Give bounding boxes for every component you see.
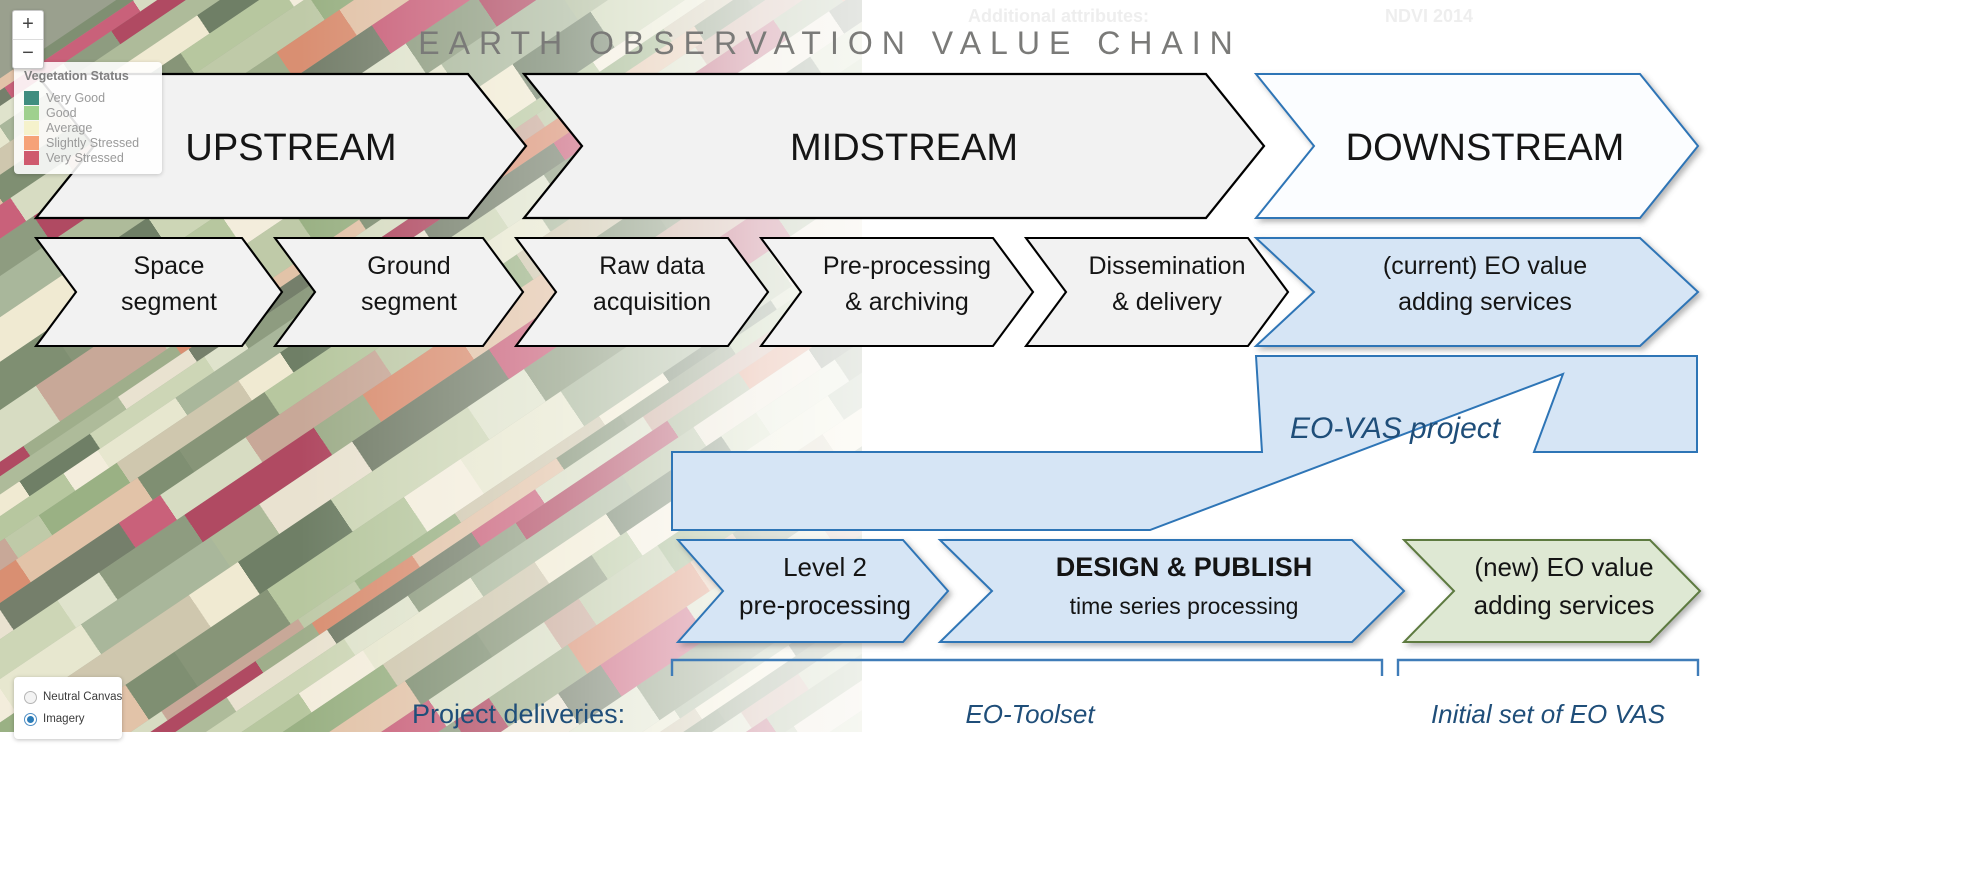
legend-item-label: Average [46, 121, 92, 135]
zoom-in-button[interactable]: + [13, 11, 43, 39]
stage-label-line2: & delivery [1112, 288, 1222, 316]
map-zoom-controls[interactable]: + − [12, 10, 44, 69]
stage-label-line1: Dissemination [1088, 252, 1245, 280]
legend-item-label: Slightly Stressed [46, 136, 139, 150]
legend-color-swatch [24, 121, 39, 135]
basemap-option-label: Imagery [43, 713, 85, 725]
basemap-selector[interactable]: Neutral CanvasImagery [14, 677, 122, 739]
delivery-bracket [672, 660, 1382, 676]
basemap-option[interactable]: Neutral Canvas [24, 686, 114, 708]
project-stage-label-line2: adding services [1474, 590, 1655, 620]
basemap-option[interactable]: Imagery [24, 708, 114, 730]
project-stage-label-line2: time series processing [1070, 593, 1299, 619]
legend-rows: Very GoodGoodAverageSlightly StressedVer… [24, 90, 154, 165]
radio-selected-icon[interactable] [24, 713, 37, 726]
basemap-rows[interactable]: Neutral CanvasImagery [24, 686, 114, 730]
project-deliveries-label: Project deliveries: [412, 699, 625, 729]
tier-label: DOWNSTREAM [1346, 127, 1625, 169]
legend-item-label: Good [46, 106, 77, 120]
stage-label-line1: Pre-processing [823, 252, 991, 280]
project-stage-label-line1: Level 2 [783, 552, 867, 582]
project-stage-label-line1: (new) EO value [1474, 552, 1653, 582]
radio-unselected-icon[interactable] [24, 691, 37, 704]
legend-item-label: Very Good [46, 91, 105, 105]
stage-label-line1: Space [134, 252, 205, 280]
legend-color-swatch [24, 106, 39, 120]
basemap-option-label: Neutral Canvas [43, 691, 122, 703]
stage-label-line2: segment [121, 288, 217, 316]
eo-vas-callout-shape [672, 356, 1697, 530]
legend-item: Very Stressed [24, 150, 154, 165]
stage-label-line2: segment [361, 288, 457, 316]
zoom-out-button[interactable]: − [13, 39, 43, 68]
legend-item: Very Good [24, 90, 154, 105]
stage-label-line2: acquisition [593, 288, 711, 316]
tier-label: UPSTREAM [185, 127, 396, 169]
diagram-svg: UPSTREAMMIDSTREAMDOWNSTREAMSpacesegmentG… [0, 0, 1988, 876]
vegetation-status-legend: Vegetation Status Very GoodGoodAverageSl… [14, 62, 162, 174]
legend-color-swatch [24, 136, 39, 150]
legend-item-label: Very Stressed [46, 151, 124, 165]
project-stage-label-line1: DESIGN & PUBLISH [1056, 552, 1313, 582]
legend-item: Average [24, 120, 154, 135]
delivery-label: EO-Toolset [965, 699, 1096, 729]
delivery-bracket [1398, 660, 1698, 676]
screenshot-root: Additional attributes: NDVI 2014 + − Veg… [0, 0, 1988, 876]
eo-vas-callout-label: EO-VAS project [1290, 412, 1502, 445]
stage-label-line1: Ground [367, 252, 450, 280]
stage-label-line1: Raw data [599, 252, 705, 280]
legend-item: Slightly Stressed [24, 135, 154, 150]
value-chain-diagram: EARTH OBSERVATION VALUE CHAIN UPSTREAMMI… [0, 0, 1988, 876]
legend-color-swatch [24, 151, 39, 165]
stage-label-line1: (current) EO value [1383, 252, 1587, 280]
tier-label: MIDSTREAM [790, 127, 1018, 169]
project-stage-label-line2: pre-processing [739, 590, 911, 620]
legend-item: Good [24, 105, 154, 120]
stage-label-line2: & archiving [845, 288, 969, 316]
legend-color-swatch [24, 91, 39, 105]
delivery-label: Initial set of EO VAS [1431, 699, 1666, 729]
stage-label-line2: adding services [1398, 288, 1572, 316]
legend-title: Vegetation Status [24, 69, 154, 83]
